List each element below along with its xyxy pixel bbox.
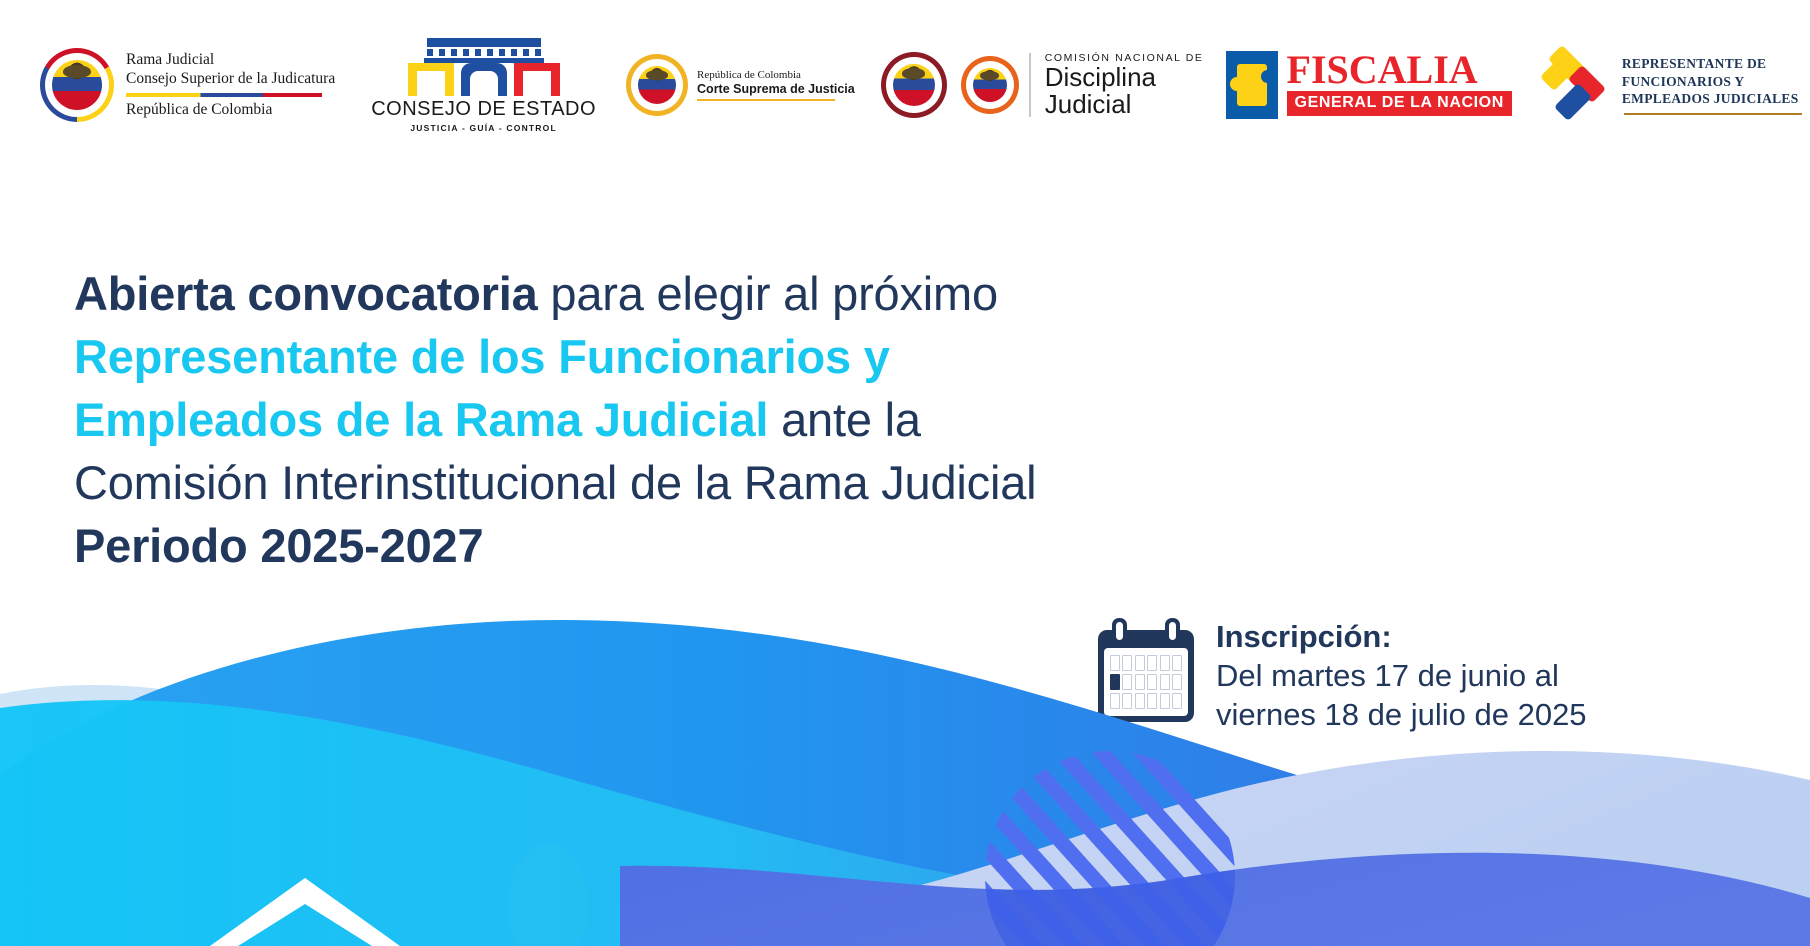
logo-fiscalia-line2: GENERAL DE LA NACION <box>1287 91 1512 116</box>
logo-fiscalia: FISCALIA GENERAL DE LA NACION <box>1226 51 1512 119</box>
logo-disciplina-judicial: COMISIÓN NACIONAL DE Disciplina Judicial <box>961 52 1204 119</box>
logo-representante-line3: EMPLEADOS JUDICIALES <box>1622 90 1802 108</box>
logo-consejo-de-estado-name: CONSEJO DE ESTADO <box>371 98 596 121</box>
headline: Abierta convocatoria para elegir al próx… <box>74 262 1036 577</box>
divider <box>1029 53 1031 117</box>
disciplina-seal-icon <box>961 56 1019 114</box>
colombia-seal-icon <box>626 54 688 116</box>
logo-corte-suprema-line1: República de Colombia <box>697 69 855 81</box>
headline-line-4: Comisión Interinstitucional de la Rama J… <box>74 451 1036 514</box>
logo-representante-line1: REPRESENTANTE DE <box>1622 55 1802 73</box>
logo-consejo-de-estado-tagline: JUSTICIA - GUÍA - CONTROL <box>371 123 596 133</box>
logo-corte-constitucional <box>881 52 947 118</box>
headline-highlight-representante: Representante de los Funcionarios y <box>74 330 890 383</box>
headline-line-3-rest: ante la <box>768 393 921 446</box>
logo-rama-judicial-line3: República de Colombia <box>126 101 335 119</box>
arch-building-icon <box>408 38 560 96</box>
decorative-wave-graphic <box>0 616 1810 946</box>
logo-representante-line2: FUNCIONARIOS Y <box>1622 73 1802 91</box>
logo-corte-suprema: República de Colombia Corte Suprema de J… <box>626 54 855 116</box>
corte-constitucional-seal-icon <box>881 52 947 118</box>
tricolor-rule <box>126 93 322 97</box>
headline-line-1: Abierta convocatoria para elegir al próx… <box>74 262 1036 325</box>
headline-line-3: Empleados de la Rama Judicial ante la <box>74 388 1036 451</box>
colombia-seal-icon <box>40 48 114 122</box>
headline-line-2: Representante de los Funcionarios y <box>74 325 1036 388</box>
logo-representante-funcionarios: REPRESENTANTE DE FUNCIONARIOS Y EMPLEADO… <box>1536 48 1802 122</box>
headline-highlight-empleados: Empleados de la Rama Judicial <box>74 393 768 446</box>
gold-rule <box>697 99 835 102</box>
logo-disciplina-line2: Judicial <box>1045 91 1204 118</box>
four-hands-icon <box>1536 48 1610 122</box>
headline-emphasis-abierta: Abierta convocatoria <box>74 267 538 320</box>
logo-consejo-de-estado: CONSEJO DE ESTADO JUSTICIA - GUÍA - CONT… <box>371 38 596 133</box>
logo-rama-judicial: Rama Judicial Consejo Superior de la Jud… <box>40 48 335 122</box>
headline-periodo: Periodo 2025-2027 <box>74 514 1036 577</box>
headline-line-1-rest: para elegir al próximo <box>538 267 998 320</box>
logo-rama-judicial-line2: Consejo Superior de la Judicatura <box>126 70 335 89</box>
logo-fiscalia-line1: FISCALIA <box>1287 51 1512 89</box>
puzzle-piece-icon <box>1226 51 1278 119</box>
logo-disciplina-line1: Disciplina <box>1045 64 1204 91</box>
logo-rama-judicial-line1: Rama Judicial <box>126 51 335 70</box>
institutional-logo-bar: Rama Judicial Consejo Superior de la Jud… <box>40 30 1780 140</box>
logo-corte-suprema-line2: Corte Suprema de Justicia <box>697 82 855 96</box>
gold-rule <box>1624 113 1802 115</box>
